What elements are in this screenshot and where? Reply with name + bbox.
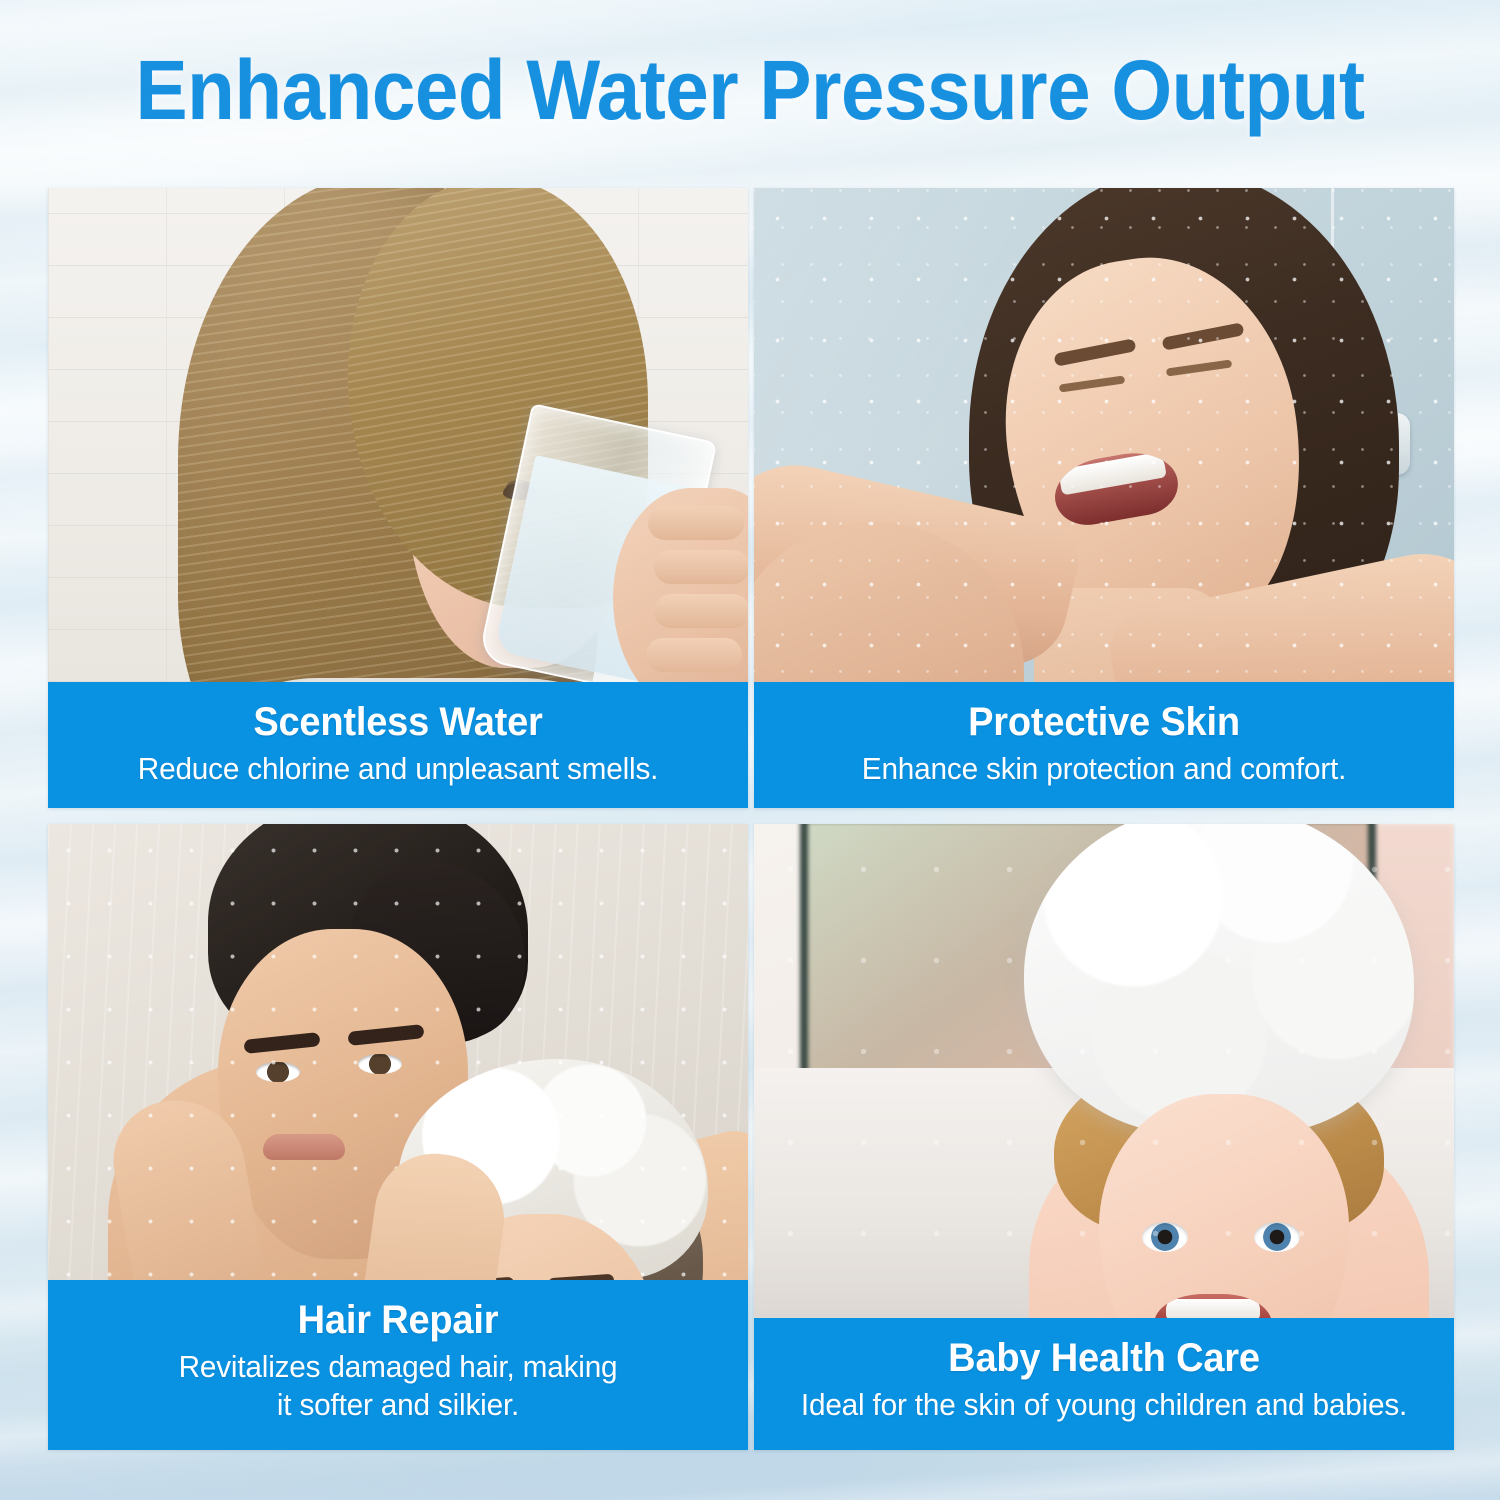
finger-2	[654, 550, 748, 584]
card-subtitle: Enhance skin protection and comfort.	[781, 750, 1426, 788]
card-subtitle: Reduce chlorine and unpleasant smells.	[75, 750, 720, 788]
card-title: Scentless Water	[79, 698, 717, 746]
caption-band-scentless-water: Scentless Water Reduce chlorine and unpl…	[48, 682, 748, 808]
finger-1	[648, 506, 744, 540]
baby-with-foam-photo	[754, 824, 1454, 1318]
card-title: Baby Health Care	[785, 1334, 1423, 1382]
feature-card-hair-repair[interactable]: Hair Repair Revitalizes damaged hair, ma…	[48, 824, 748, 1450]
finger-3	[654, 594, 748, 628]
caption-band-baby-health-care: Baby Health Care Ideal for the skin of y…	[754, 1318, 1454, 1450]
page-title: Enhanced Water Pressure Output	[53, 44, 1448, 136]
couple-shampooing-photo	[48, 824, 748, 1280]
card-subtitle-line1: Reduce chlorine and unpleasant smells.	[138, 751, 658, 786]
girl-drinking-water-photo	[48, 188, 748, 682]
water-droplets	[754, 188, 1454, 682]
bubble-speckles	[754, 824, 1454, 1318]
infographic-canvas: Enhanced Water Pressure Output	[0, 0, 1500, 1500]
feature-card-grid: Scentless Water Reduce chlorine and unpl…	[48, 188, 1454, 1450]
card-subtitle: Revitalizes damaged hair, making it soft…	[75, 1348, 720, 1424]
card-subtitle-line1: Revitalizes damaged hair, making	[179, 1349, 618, 1384]
caption-band-hair-repair: Hair Repair Revitalizes damaged hair, ma…	[48, 1280, 748, 1450]
caption-band-protective-skin: Protective Skin Enhance skin protection …	[754, 682, 1454, 808]
feature-card-protective-skin[interactable]: Protective Skin Enhance skin protection …	[754, 188, 1454, 808]
card-subtitle-line1: Ideal for the skin of young children and…	[801, 1387, 1407, 1422]
card-subtitle: Ideal for the skin of young children and…	[781, 1386, 1426, 1424]
card-title: Hair Repair	[79, 1296, 717, 1344]
woman-in-shower-photo	[754, 188, 1454, 682]
card-title: Protective Skin	[785, 698, 1423, 746]
feature-card-baby-health-care[interactable]: Baby Health Care Ideal for the skin of y…	[754, 824, 1454, 1450]
card-subtitle-line2: it softer and silkier.	[75, 1386, 720, 1424]
card-subtitle-line1: Enhance skin protection and comfort.	[862, 751, 1346, 786]
finger-4	[646, 638, 742, 672]
feature-card-scentless-water[interactable]: Scentless Water Reduce chlorine and unpl…	[48, 188, 748, 808]
